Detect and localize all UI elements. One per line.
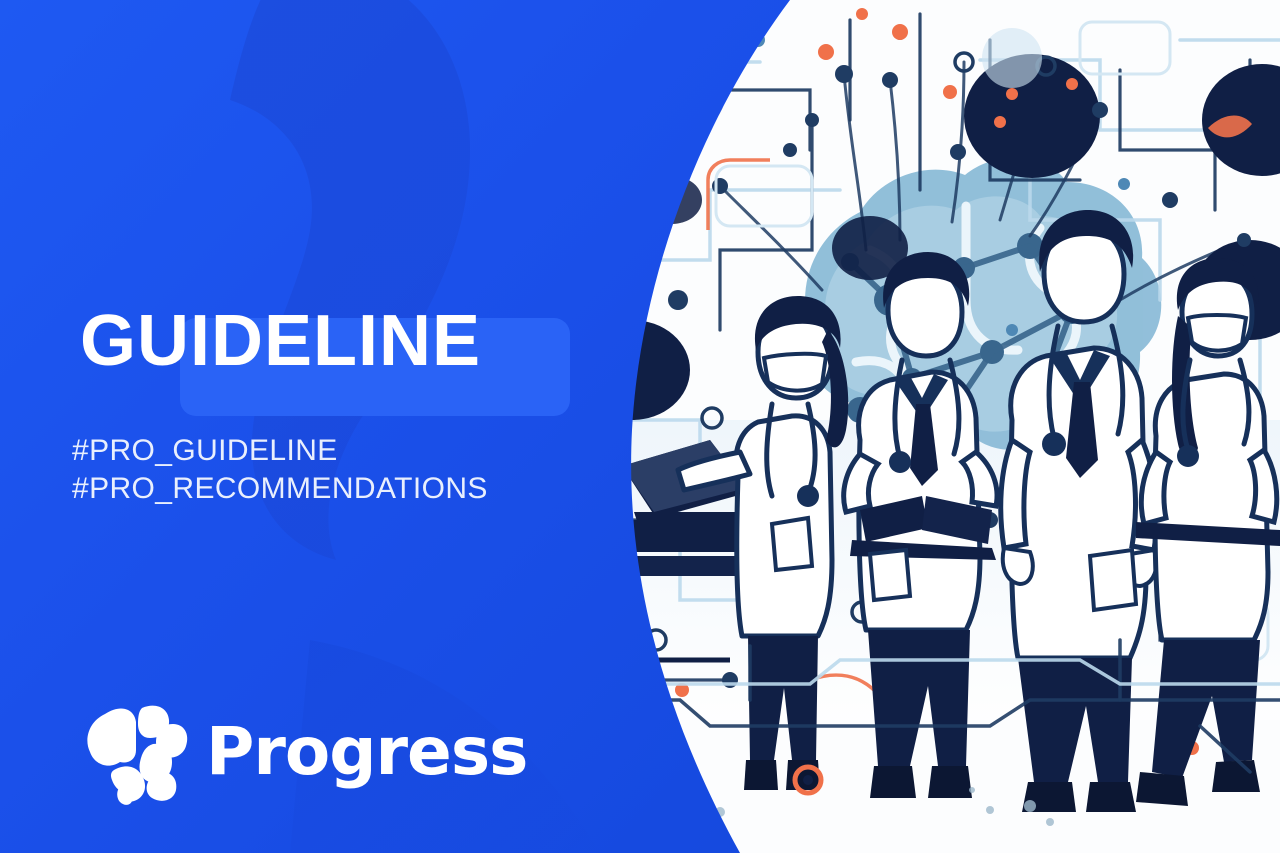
- page-title: GUIDELINE: [80, 305, 481, 377]
- brand-logo: Progress: [74, 698, 527, 806]
- guideline-banner: GUIDELINE #PRO_GUIDELINE #PRO_RECOMMENDA…: [0, 0, 1280, 853]
- brain-icon: [74, 698, 192, 806]
- hashtag-item-2: #PRO_RECOMMENDATIONS: [72, 470, 488, 508]
- brand-name: Progress: [206, 719, 527, 785]
- hashtag-item-1: #PRO_GUIDELINE: [72, 432, 488, 470]
- hashtag-list: #PRO_GUIDELINE #PRO_RECOMMENDATIONS: [72, 432, 488, 509]
- text-content: GUIDELINE #PRO_GUIDELINE #PRO_RECOMMENDA…: [0, 0, 640, 853]
